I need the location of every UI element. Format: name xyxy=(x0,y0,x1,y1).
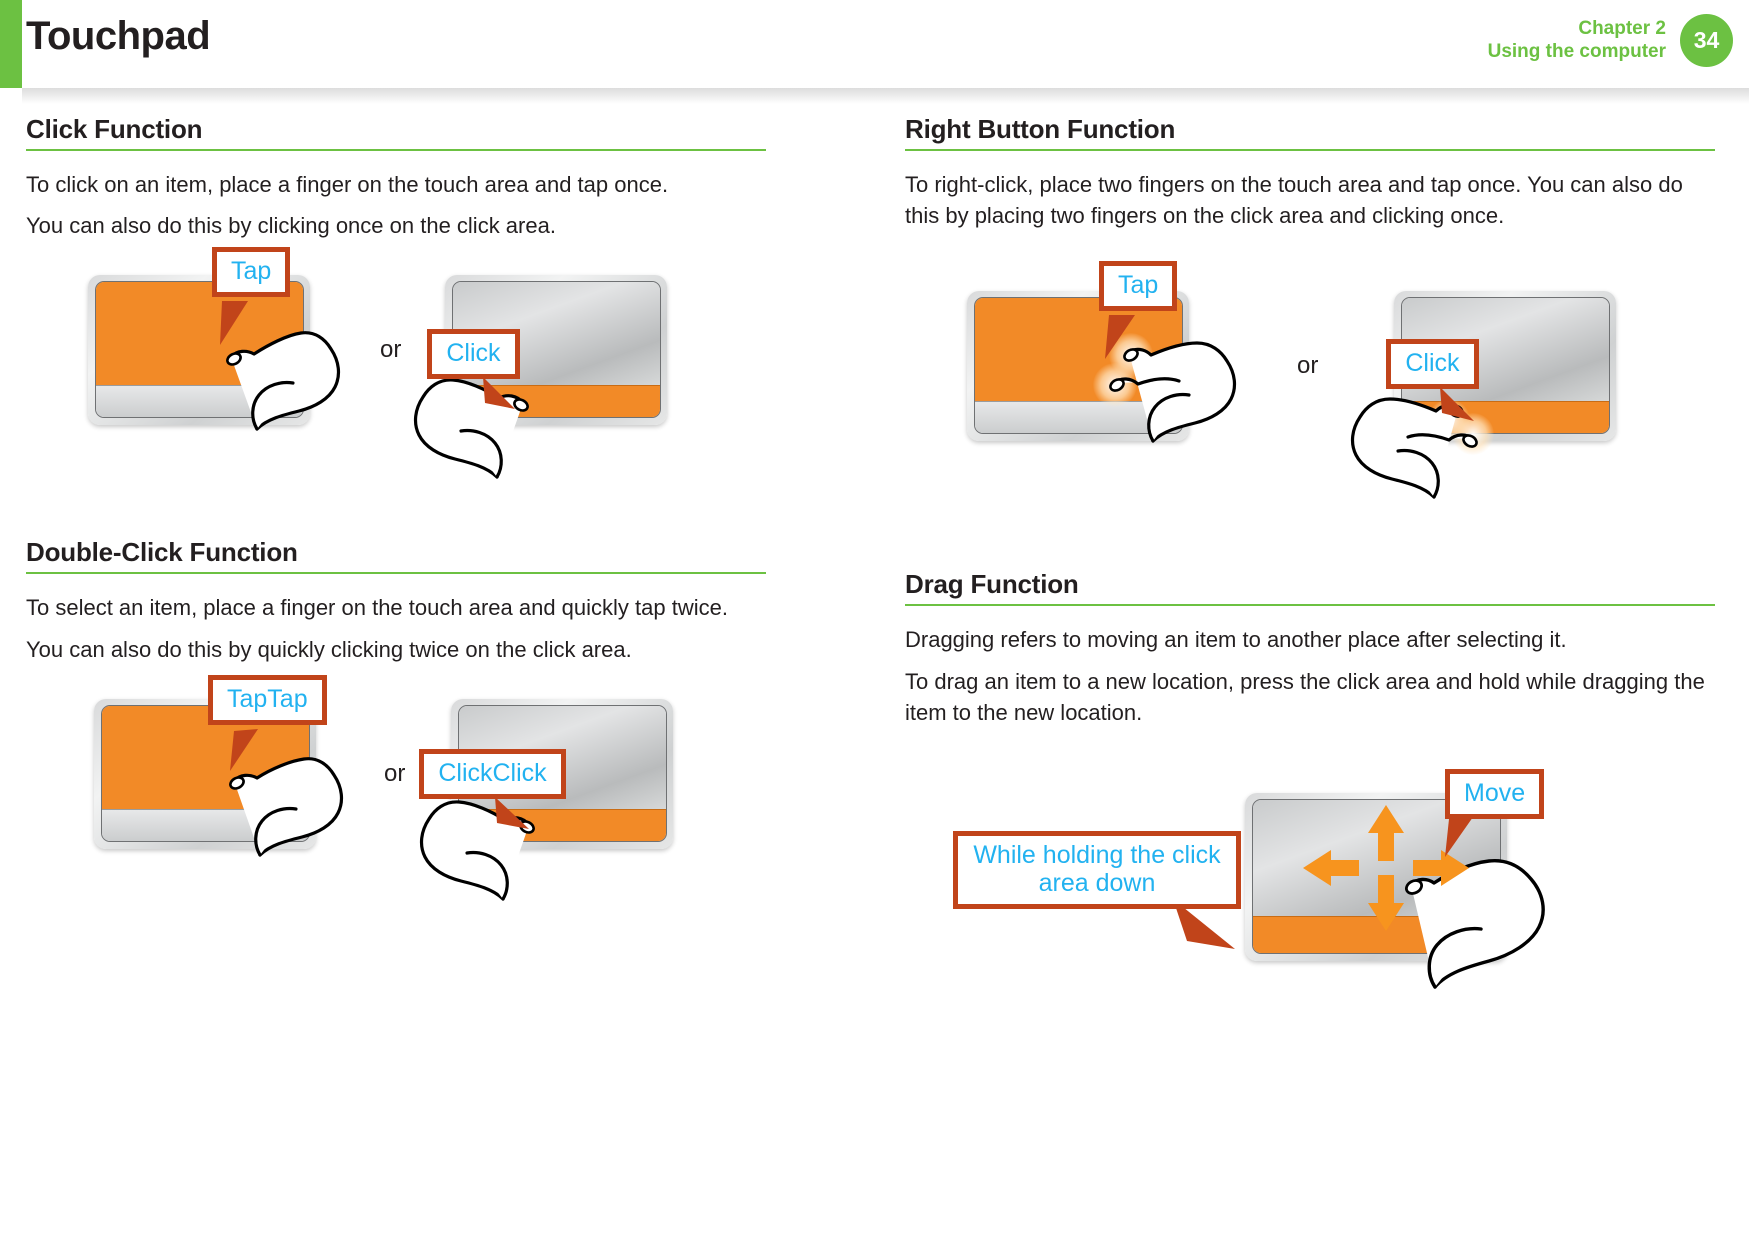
touchpad-inner xyxy=(95,281,304,418)
callout-tail-icon xyxy=(226,727,272,773)
touchpad-tap-graphic: Tap xyxy=(88,275,310,425)
or-separator-double-click: or xyxy=(362,760,427,788)
chapter-block: Chapter 2 Using the computer xyxy=(1488,18,1666,63)
double-click-illustration: TapTap or xyxy=(26,689,766,859)
left-column: Click Function To click on an item, plac… xyxy=(26,114,766,859)
touchpad-frame xyxy=(967,291,1189,441)
chapter-label: Chapter 2 xyxy=(1488,18,1666,40)
callout-tap: Tap xyxy=(212,247,290,297)
section-right-button-function: Right Button Function To right-click, pl… xyxy=(905,114,1715,461)
touchpad-inner xyxy=(101,705,310,842)
page-header: Touchpad Chapter 2 Using the computer 34 xyxy=(0,0,1749,92)
click-function-paragraph-2: You can also do this by clicking once on… xyxy=(26,210,766,241)
heading-rule xyxy=(26,572,766,574)
page-title: Touchpad xyxy=(26,14,210,59)
heading-rule xyxy=(26,149,766,151)
click-illustration: Tap or xyxy=(26,265,766,435)
touchpad-frame xyxy=(88,275,310,425)
heading-rule xyxy=(905,149,1715,151)
touchpad-click-graphic: Click xyxy=(445,275,667,425)
callout-tail-icon xyxy=(1438,385,1486,429)
double-click-paragraph-1: To select an item, place a finger on the… xyxy=(26,592,766,623)
callout-tail-icon xyxy=(481,375,527,415)
drag-paragraph-2: To drag an item to a new location, press… xyxy=(905,666,1715,728)
callout-move: Move xyxy=(1445,769,1544,819)
section-double-click-function: Double-Click Function To select an item,… xyxy=(26,537,766,858)
click-area xyxy=(96,385,303,417)
right-button-function-heading: Right Button Function xyxy=(905,114,1715,145)
header-accent-bar xyxy=(0,0,22,88)
click-function-paragraph-1: To click on an item, place a finger on t… xyxy=(26,169,766,200)
click-function-heading: Click Function xyxy=(26,114,766,145)
section-drag-function: Drag Function Dragging refers to moving … xyxy=(905,569,1715,992)
touchpad-inner xyxy=(974,297,1183,434)
callout-click: Click xyxy=(427,329,519,379)
callout-taptap: TapTap xyxy=(208,675,327,725)
drag-function-heading: Drag Function xyxy=(905,569,1715,600)
touchpad-drag-graphic: Move While holding the click area down xyxy=(1245,793,1507,961)
callout-tail-icon xyxy=(1101,313,1147,361)
callout-tail-icon xyxy=(1441,815,1485,859)
callout-click: Click xyxy=(1386,339,1478,389)
right-column: Right Button Function To right-click, pl… xyxy=(905,114,1715,992)
double-click-paragraph-2: You can also do this by quickly clicking… xyxy=(26,634,766,665)
or-separator-click: or xyxy=(358,336,423,364)
header-meta: Chapter 2 Using the computer 34 xyxy=(1488,14,1733,67)
page-number-badge: 34 xyxy=(1680,14,1733,67)
right-button-illustration: Tap or xyxy=(905,271,1715,461)
section-click-function: Click Function To click on an item, plac… xyxy=(26,114,766,435)
or-separator-right-button: or xyxy=(1275,352,1340,380)
page-content: Click Function To click on an item, plac… xyxy=(0,92,1749,1241)
chapter-subtitle: Using the computer xyxy=(1488,41,1666,63)
double-click-function-heading: Double-Click Function xyxy=(26,537,766,568)
touchpad-clickclick-graphic: ClickClick xyxy=(451,699,673,849)
heading-rule xyxy=(905,604,1715,606)
touchpad-two-finger-click-graphic: Click xyxy=(1394,291,1616,441)
touchpad-taptap-graphic: TapTap xyxy=(94,699,316,849)
touchpad-two-finger-tap-graphic: Tap xyxy=(967,291,1189,441)
callout-tail-icon xyxy=(214,299,260,347)
drag-paragraph-1: Dragging refers to moving an item to ano… xyxy=(905,624,1715,655)
callout-clickclick: ClickClick xyxy=(419,749,565,799)
click-area-highlight xyxy=(459,809,666,841)
callout-tail-icon xyxy=(493,795,541,837)
callout-hold-click-area: While holding the click area down xyxy=(953,831,1241,909)
click-area xyxy=(975,401,1182,433)
drag-illustration: Move While holding the click area down xyxy=(905,762,1715,992)
right-button-paragraph-1: To right-click, place two fingers on the… xyxy=(905,169,1715,231)
callout-tap: Tap xyxy=(1099,261,1177,311)
click-area xyxy=(102,809,309,841)
touch-area-highlight xyxy=(96,282,303,385)
